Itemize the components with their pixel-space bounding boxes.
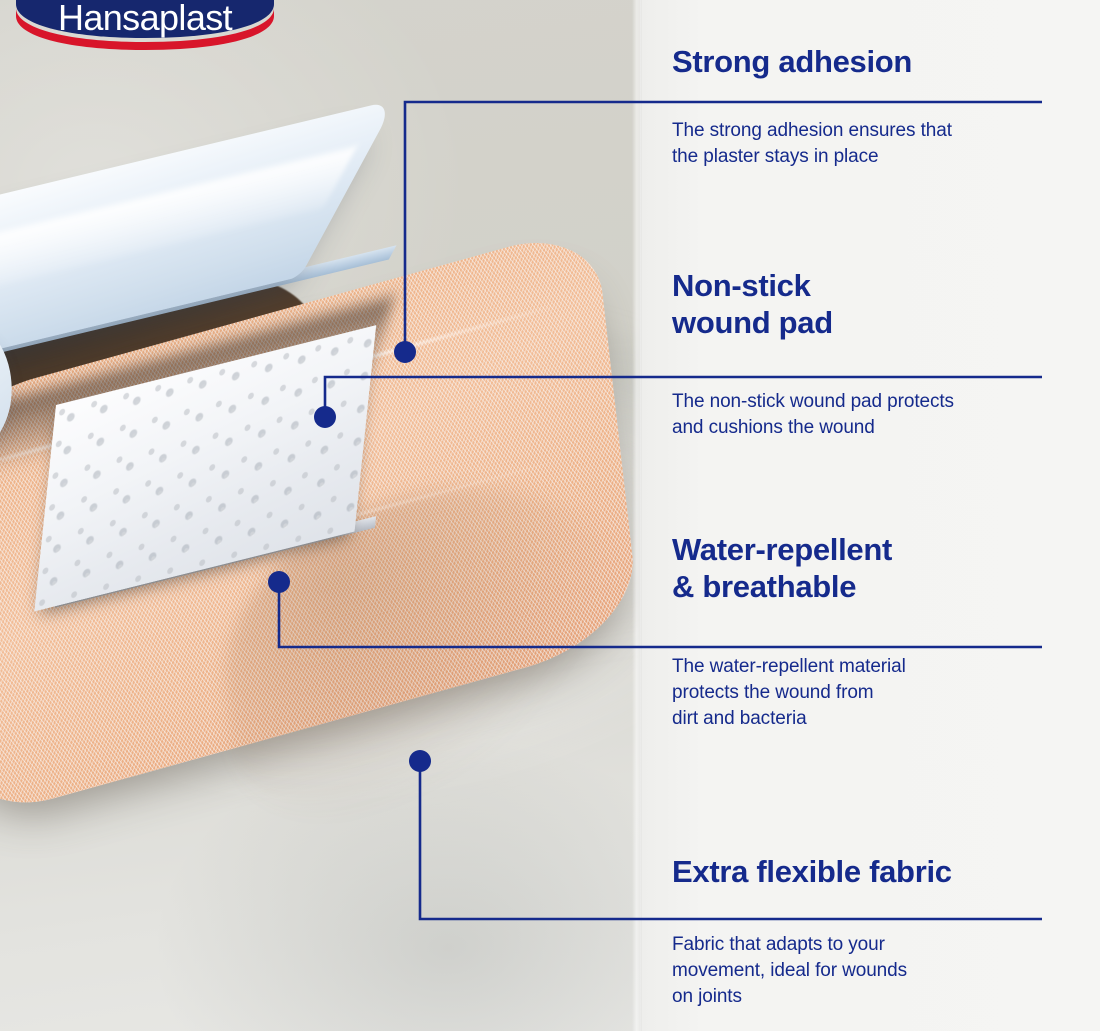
callout-body: The non-stick wound pad protects and cus… xyxy=(672,389,954,441)
product-image-panel xyxy=(0,0,640,1031)
callout-body: The strong adhesion ensures that the pla… xyxy=(672,118,952,170)
hansaplast-logo: Hansaplast xyxy=(14,0,276,52)
callout-body: Fabric that adapts to your movement, ide… xyxy=(672,932,907,1011)
panel-divider xyxy=(632,0,642,1031)
callout-title: Extra flexible fabric xyxy=(672,854,1052,891)
plaster-exploded-view xyxy=(0,250,640,870)
callout-body: The water-repellent material protects th… xyxy=(672,654,906,733)
callout-title: Water-repellent & breathable xyxy=(672,532,1052,605)
callout-title: Strong adhesion xyxy=(672,44,1052,81)
callout-title: Non-stick wound pad xyxy=(672,268,1052,341)
callout-strong-adhesion: Strong adhesion The strong adhesion ensu… xyxy=(672,44,1052,81)
callout-non-stick-wound-pad: Non-stick wound pad The non-stick wound … xyxy=(672,268,1052,341)
infographic-root: Hansaplast Strong adhesion The strong ad… xyxy=(0,0,1100,1031)
logo-wordmark: Hansaplast xyxy=(14,0,276,38)
callout-extra-flexible-fabric: Extra flexible fabric Fabric that adapts… xyxy=(672,854,1052,891)
callout-water-repellent-breathable: Water-repellent & breathable The water-r… xyxy=(672,532,1052,605)
